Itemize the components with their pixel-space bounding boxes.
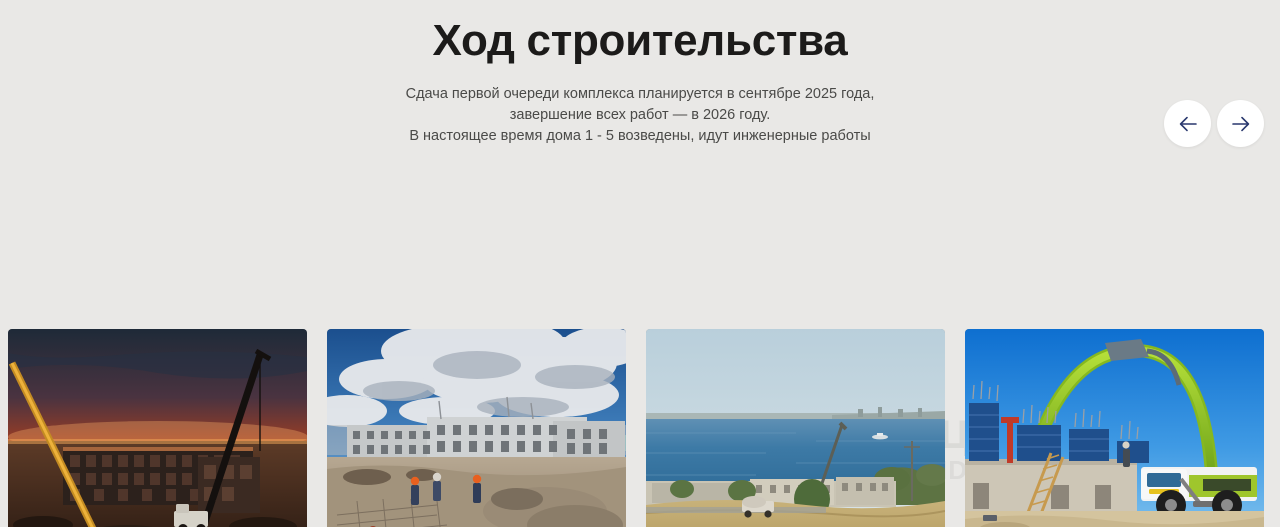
photo-cloudy-buildings xyxy=(327,329,626,527)
photo-sunset-cranes xyxy=(8,329,307,527)
page-title: Ход строительства xyxy=(0,14,1280,68)
gallery-card[interactable]: 4 квартал 2024 13 фото xyxy=(327,329,626,527)
subtitle-line-3: В настоящее время дома 1 - 5 возведены, … xyxy=(0,126,1280,147)
gallery-card[interactable]: 3 квартал 2024 8 фото xyxy=(646,329,945,527)
card-thumbnail[interactable] xyxy=(965,329,1264,527)
section-subtitle: Сдача первой очереди комплекса планирует… xyxy=(0,84,1280,147)
subtitle-line-1: Сдача первой очереди комплекса планирует… xyxy=(0,84,1280,105)
photo-sea-view xyxy=(646,329,945,527)
card-thumbnail[interactable] xyxy=(327,329,626,527)
card-thumbnail[interactable] xyxy=(646,329,945,527)
gallery-card[interactable]: 2 квартал 2024 6 фото xyxy=(965,329,1264,527)
construction-progress-gallery: 1 квартал 2025 14 фото xyxy=(8,329,1280,527)
construction-progress-header: Ход строительства Сдача первой очереди к… xyxy=(0,0,1280,147)
subtitle-line-2: завершение всех работ — в 2026 году. xyxy=(0,105,1280,126)
photo-concrete-pump xyxy=(965,329,1264,527)
card-thumbnail[interactable] xyxy=(8,329,307,527)
gallery-card[interactable]: 1 квартал 2025 14 фото xyxy=(8,329,307,527)
